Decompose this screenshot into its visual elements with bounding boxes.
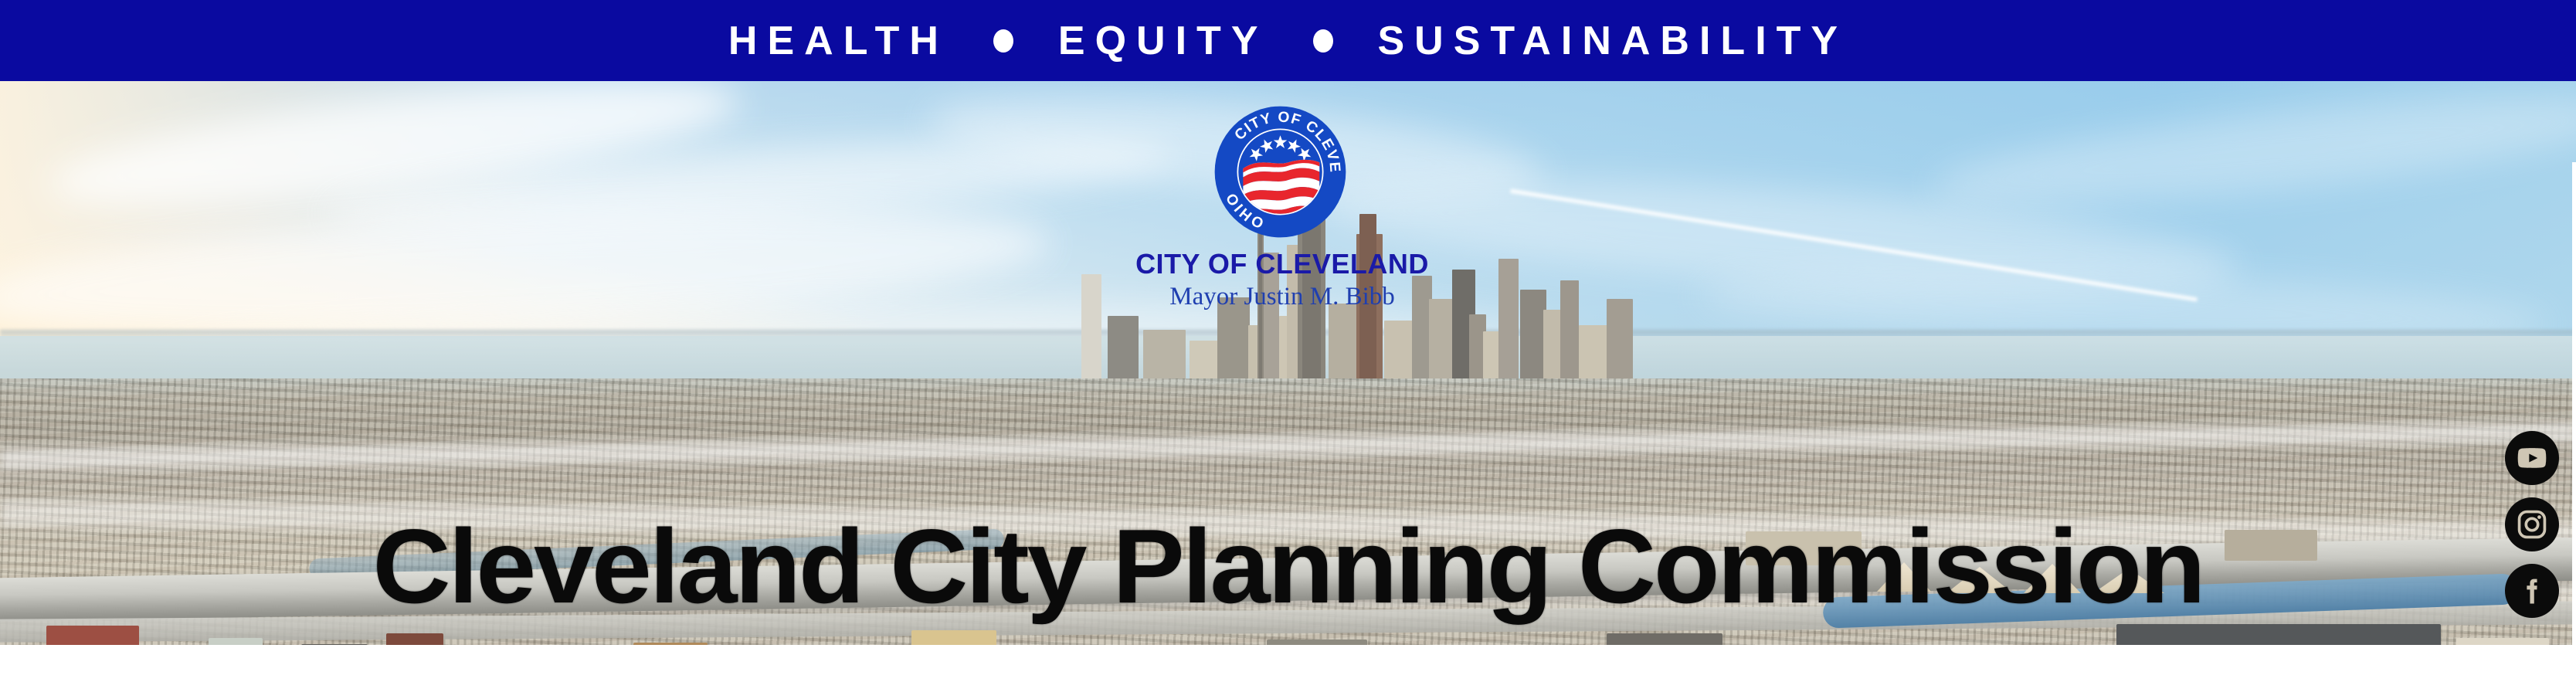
facebook-icon [2515, 574, 2549, 608]
right-edge-strip [2572, 162, 2576, 645]
tagline-word-equity: EQUITY [1058, 21, 1268, 61]
neighborhood-building [2456, 638, 2549, 645]
bullet-dot-icon-2 [1313, 29, 1333, 53]
youtube-button[interactable] [2505, 431, 2559, 485]
bottom-white-strip [0, 645, 2576, 682]
page-title: Cleveland City Planning Commission [0, 514, 2576, 619]
tagline-word-sustainability: SUSTAINABILITY [1378, 21, 1848, 61]
city-seal: CITY OF CLEVELAND OHIO [1213, 104, 1348, 255]
neighborhood-building [46, 626, 139, 645]
instagram-icon [2516, 508, 2548, 541]
page-root: HEALTH EQUITY SUSTAINABILITY [0, 0, 2576, 682]
city-name-label: CITY OF CLEVELAND [977, 249, 1587, 279]
mixed-use-building [2116, 624, 2441, 645]
social-links [2505, 431, 2559, 618]
neighborhood-building [209, 638, 263, 645]
bullet-dot-icon-1 [993, 29, 1013, 53]
facebook-button[interactable] [2505, 564, 2559, 618]
city-of-cleveland-seal-icon: CITY OF CLEVELAND OHIO [1213, 104, 1348, 239]
instagram-button[interactable] [2505, 497, 2559, 551]
youtube-icon [2515, 441, 2549, 475]
mayor-name-label: Mayor Justin M. Bibb [977, 283, 1587, 310]
neighborhood-building [1607, 633, 1722, 645]
tagline-word-health: HEALTH [728, 21, 949, 61]
hero-photo: CITY OF CLEVELAND OHIO [0, 81, 2576, 645]
neighborhood-building [911, 630, 996, 645]
tagline-banner: HEALTH EQUITY SUSTAINABILITY [0, 0, 2576, 81]
neighborhood-building [1267, 640, 1367, 645]
downtown-skyline [1066, 81, 1653, 390]
neighborhood-building [386, 633, 443, 645]
tagline-banner-inner: HEALTH EQUITY SUSTAINABILITY [728, 21, 1848, 61]
